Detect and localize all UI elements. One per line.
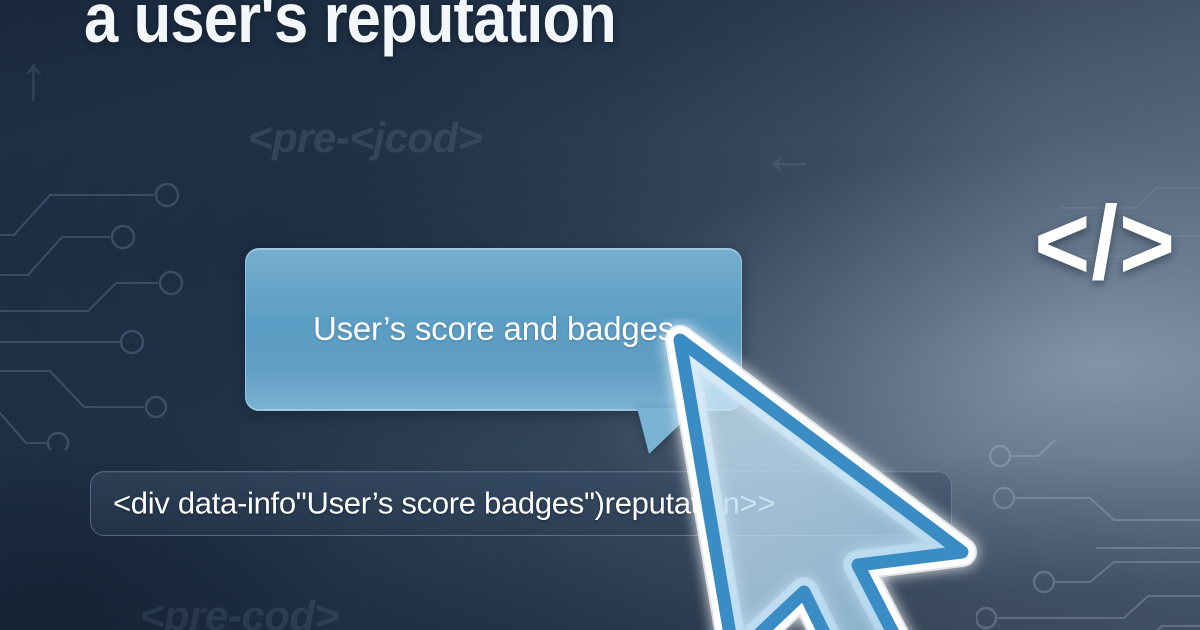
- arrow-up-icon: ↑: [18, 48, 49, 110]
- code-brackets-icon: </>: [1034, 192, 1176, 296]
- circuit-traces-left-icon: [0, 175, 227, 450]
- speech-bubble: User’s score and badges: [245, 248, 742, 411]
- speech-bubble-body: User’s score and badges: [245, 248, 742, 411]
- arrow-left-icon: ←: [760, 126, 818, 184]
- speech-bubble-tail: [637, 408, 697, 454]
- ghost-code-text-bottom: <pre-cod>: [140, 592, 339, 630]
- banner-canvas: ↑ ← <pre-<jcod> <pre-cod> a user's reput…: [0, 0, 1200, 630]
- page-title: a user's reputation: [84, 0, 616, 58]
- code-snippet-bar: <div data-info"User’s score badges")repu…: [90, 471, 952, 536]
- circuit-traces-right-icon: [976, 440, 1200, 630]
- code-snippet-text: <div data-info"User’s score badges")repu…: [113, 485, 775, 521]
- ghost-code-text-top: <pre-<jcod>: [248, 114, 482, 162]
- speech-bubble-text: User’s score and badges: [246, 310, 741, 348]
